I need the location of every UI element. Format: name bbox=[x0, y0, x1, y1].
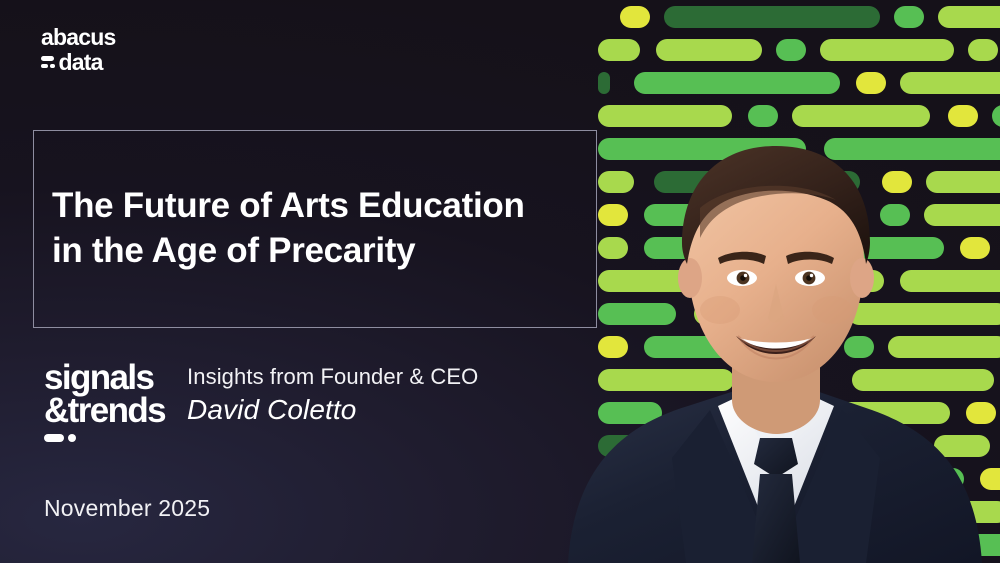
title-line-1: The Future of Arts Education bbox=[52, 184, 525, 229]
pattern-bar bbox=[792, 105, 930, 127]
byline-person: David Coletto bbox=[187, 393, 478, 427]
pattern-dot bbox=[968, 39, 998, 61]
pattern-dot bbox=[620, 6, 650, 28]
portrait-photo bbox=[560, 138, 990, 563]
logo-word-abacus: abacus bbox=[41, 26, 191, 49]
pattern-bar bbox=[900, 72, 1000, 94]
signals-word: signals bbox=[44, 362, 165, 395]
trends-word: &trends bbox=[44, 395, 165, 428]
signals-trends-lockup: signals &trends Insights from Founder & … bbox=[44, 362, 478, 442]
page-title: The Future of Arts Education in the Age … bbox=[34, 184, 543, 274]
signals-trends-logo[interactable]: signals &trends bbox=[44, 362, 165, 442]
byline: Insights from Founder & CEO David Colett… bbox=[187, 362, 478, 427]
title-slide: abacus data The Future of Arts Education… bbox=[0, 0, 1000, 563]
pattern-bar bbox=[664, 6, 880, 28]
pattern-dot bbox=[776, 39, 806, 61]
pattern-dot bbox=[856, 72, 886, 94]
abacus-beads-icon bbox=[41, 56, 55, 69]
slide-date: November 2025 bbox=[44, 495, 210, 522]
abacus-data-logo[interactable]: abacus data bbox=[41, 26, 191, 74]
pattern-bar bbox=[992, 105, 1000, 127]
pattern-dot bbox=[948, 105, 978, 127]
pattern-bar bbox=[656, 39, 762, 61]
pattern-bar bbox=[938, 6, 1000, 28]
pattern-bar bbox=[634, 72, 840, 94]
pattern-dot bbox=[894, 6, 924, 28]
byline-role: Insights from Founder & CEO bbox=[187, 364, 478, 391]
pattern-bar bbox=[598, 39, 640, 61]
logo-word-data: data bbox=[59, 51, 103, 74]
pattern-bar bbox=[820, 39, 954, 61]
title-box: The Future of Arts Education in the Age … bbox=[33, 130, 597, 328]
pattern-bar bbox=[598, 105, 732, 127]
pattern-dot bbox=[748, 105, 778, 127]
dash-dot-icon bbox=[44, 434, 165, 442]
title-line-2: in the Age of Precarity bbox=[52, 229, 525, 274]
pattern-dot bbox=[598, 72, 610, 94]
